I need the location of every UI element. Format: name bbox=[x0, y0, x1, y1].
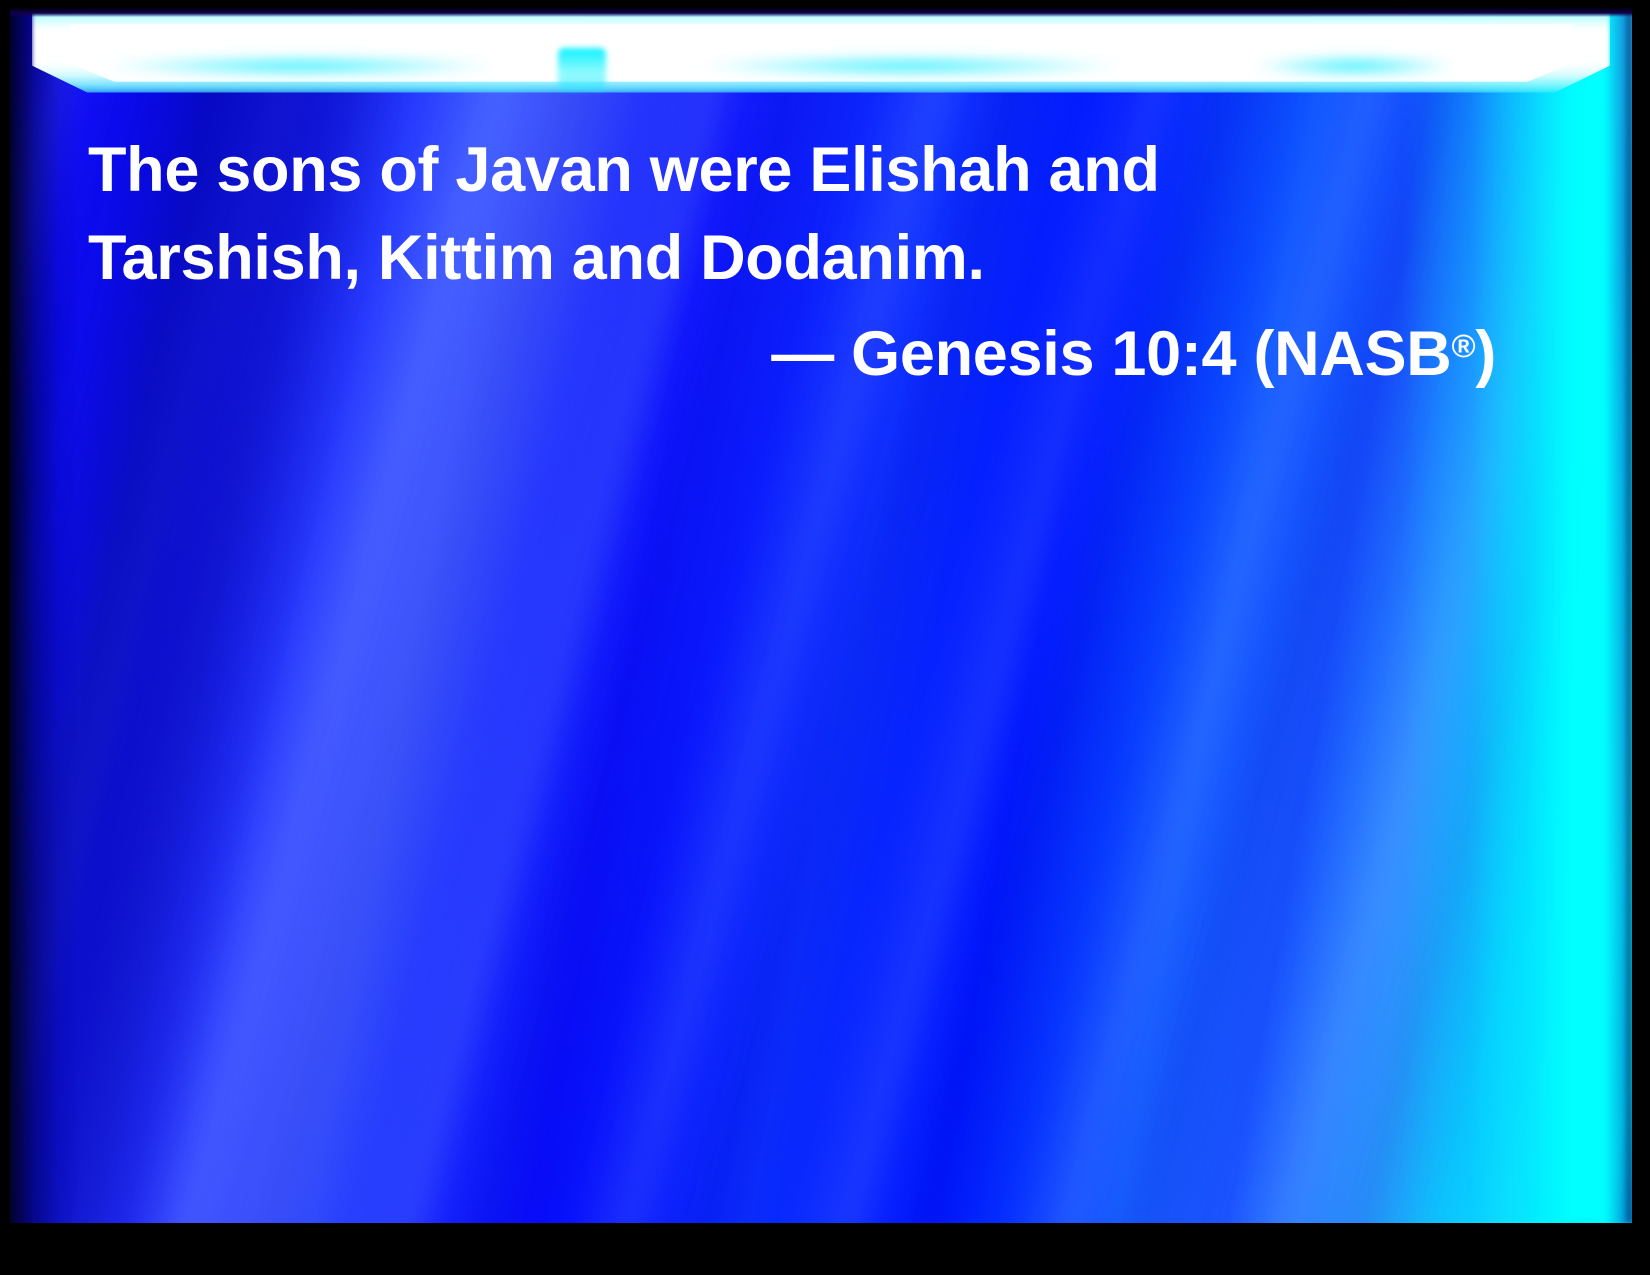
verse-text-block: The sons of Javan were Elishah and Tarsh… bbox=[88, 126, 1508, 398]
background-dark-wedge bbox=[10, 470, 724, 1223]
citation-suffix: ) bbox=[1475, 319, 1496, 389]
citation-prefix: — Genesis 10:4 (NASB bbox=[771, 319, 1451, 389]
verse-line-2: Tarshish, Kittim and Dodanim. bbox=[88, 214, 1508, 302]
verse-citation: — Genesis 10:4 (NASB®) bbox=[88, 302, 1508, 398]
registered-trademark-icon: ® bbox=[1451, 327, 1475, 364]
slide-frame: The sons of Javan were Elishah and Tarsh… bbox=[0, 0, 1650, 1275]
slide-canvas: The sons of Javan were Elishah and Tarsh… bbox=[10, 8, 1632, 1223]
background-left-shadow bbox=[10, 8, 80, 1223]
verse-line-1: The sons of Javan were Elishah and bbox=[88, 126, 1508, 214]
